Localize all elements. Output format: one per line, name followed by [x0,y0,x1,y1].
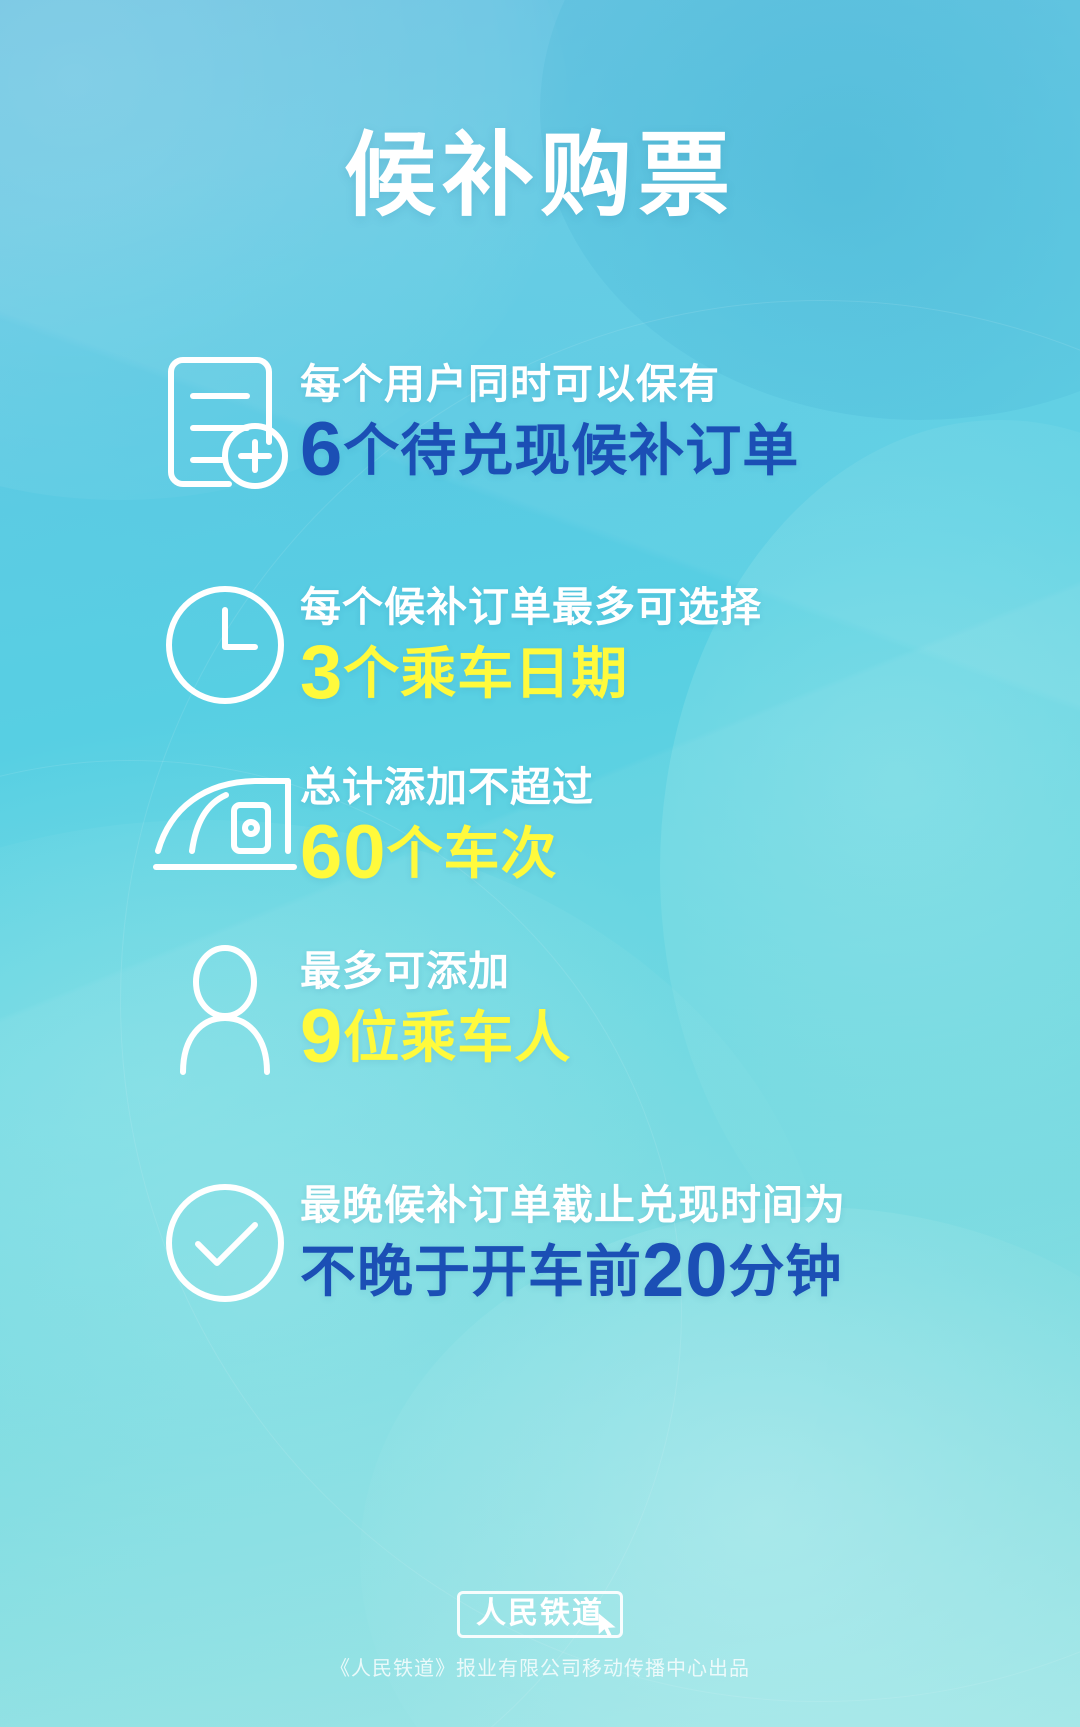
list-item: 最多可添加 9位乘车人 [150,942,571,1076]
brand-logo-text: 人民铁道 [476,1599,604,1629]
list-item-label: 最晚候补订单截止兑现时间为 [300,1180,846,1231]
list-item-value: 60个车次 [300,819,594,888]
person-icon [150,942,300,1076]
list-item-prefix: 不晚于开车前 [300,1240,642,1303]
list-item-value: 6个待兑现候补订单 [300,416,799,485]
page-title: 候补购票 [0,126,1080,227]
list-item-label: 总计添加不超过 [300,762,594,813]
list-item: 每个用户同时可以保有 6个待兑现候补订单 [150,352,799,492]
document-plus-icon [150,352,300,492]
clock-icon [150,580,300,710]
list-item-suffix: 个车次 [387,822,558,885]
list-item-suffix: 位乘车人 [343,1006,571,1069]
list-item-number: 9 [300,994,343,1079]
list-item-value: 9位乘车人 [300,1003,571,1072]
list-item-suffix: 个乘车日期 [343,642,628,705]
list-item-number: 20 [642,1228,729,1313]
list-item-number: 6 [300,407,343,492]
check-circle-icon [150,1178,300,1308]
list-item-label: 每个候补订单最多可选择 [300,582,762,633]
list-item-number: 3 [300,630,343,715]
footer: 人民铁道 《人民铁道》报业有限公司移动传播中心出品 [0,1591,1080,1681]
cursor-icon [594,1611,622,1639]
footer-caption: 《人民铁道》报业有限公司移动传播中心出品 [0,1652,1080,1681]
list-item-label: 每个用户同时可以保有 [300,359,799,410]
list-item-number: 60 [300,810,387,895]
list-item: 总计添加不超过 60个车次 [150,762,594,889]
list-item: 最晚候补订单截止兑现时间为 不晚于开车前20分钟 [150,1178,846,1308]
list-item: 每个候补订单最多可选择 3个乘车日期 [150,580,762,710]
train-icon [150,765,300,885]
list-item-value: 不晚于开车前20分钟 [300,1237,846,1306]
list-item-suffix: 分钟 [729,1240,843,1303]
brand-logo: 人民铁道 [457,1591,623,1638]
list-item-value: 3个乘车日期 [300,639,762,708]
list-item-suffix: 个待兑现候补订单 [343,419,799,482]
list-item-label: 最多可添加 [300,946,571,997]
